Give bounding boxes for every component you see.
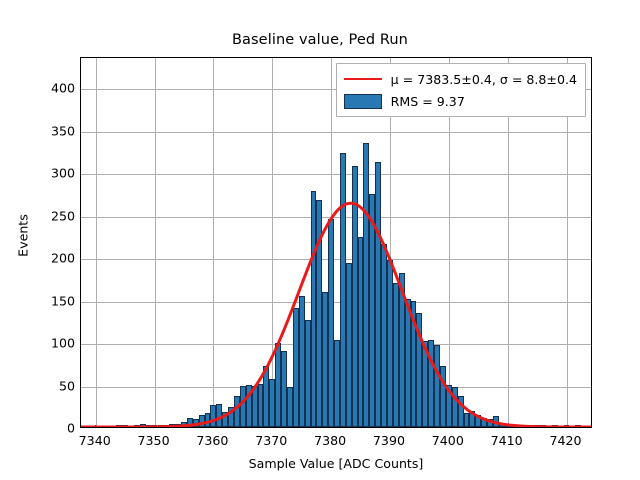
y-axis-tick-label: 50 [59,378,75,393]
plot-area: μ = 7383.5±0.4, σ = 8.8±0.4 RMS = 9.37 [80,57,592,428]
x-axis-tick-label: 7340 [79,433,111,448]
y-axis-tick-label: 300 [51,166,75,181]
x-axis-tick-label: 7420 [549,433,581,448]
histogram-bar [540,425,546,427]
x-axis-tick-labels: 734073507360737073807390740074107420 [80,433,592,451]
y-axis-title: Events [16,196,31,276]
y-axis-tick-label: 200 [51,251,75,266]
legend-line-swatch-icon [344,72,382,86]
chart-legend: μ = 7383.5±0.4, σ = 8.8±0.4 RMS = 9.37 [336,63,586,117]
legend-label-rms: RMS = 9.37 [391,94,465,109]
x-axis-tick-label: 7380 [314,433,346,448]
x-axis-tick-label: 7350 [138,433,170,448]
y-axis-tick-label: 100 [51,336,75,351]
legend-entry-fit: μ = 7383.5±0.4, σ = 8.8±0.4 [344,69,577,89]
legend-patch-swatch-icon [344,94,382,109]
histogram-bar [564,425,570,427]
y-axis-tick-label: 0 [67,421,75,436]
histogram-bar [575,425,581,427]
x-axis-tick-label: 7400 [432,433,464,448]
y-axis-tick-label: 250 [51,208,75,223]
y-axis-tick-label: 400 [51,81,75,96]
legend-entry-rms: RMS = 9.37 [344,91,577,111]
x-axis-title: Sample Value [ADC Counts] [80,456,592,471]
x-axis-tick-label: 7370 [255,433,287,448]
chart-figure: Baseline value, Ped Run Events Sample Va… [0,0,640,480]
x-axis-tick-label: 7390 [373,433,405,448]
chart-title: Baseline value, Ped Run [0,32,640,48]
y-axis-tick-labels: 050100150200250300350400 [33,57,75,428]
legend-label-fit: μ = 7383.5±0.4, σ = 8.8±0.4 [391,72,577,87]
histogram-bar [552,425,558,427]
x-axis-tick-label: 7410 [491,433,523,448]
y-axis-tick-label: 150 [51,293,75,308]
x-axis-tick-label: 7360 [196,433,228,448]
histogram-bar [122,425,128,427]
y-axis-tick-label: 350 [51,123,75,138]
